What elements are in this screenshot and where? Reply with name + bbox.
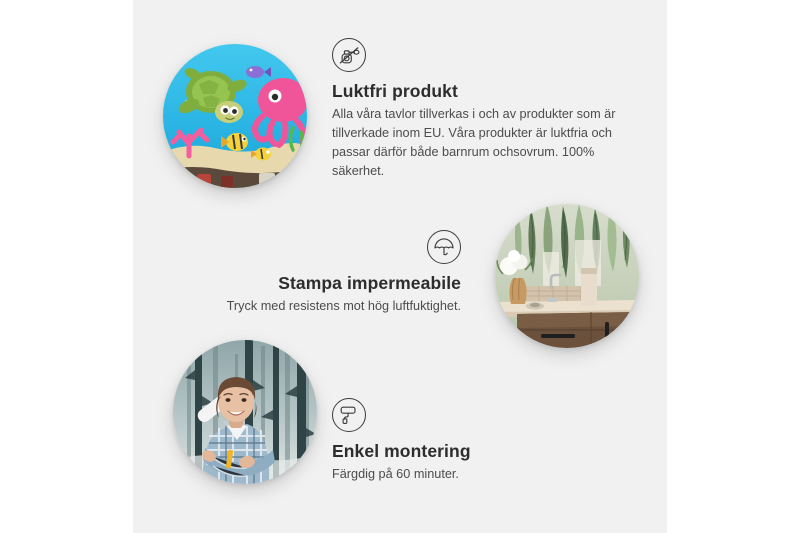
feature-body: Tryck med resistens mot hög luftfuktighe…: [180, 297, 461, 316]
promo-page: Luktfri produkt Alla våra tavlor tillver…: [0, 0, 800, 533]
feature-title: Luktfri produkt: [332, 81, 624, 101]
feature-easy-mounting: Enkel montering Färgdig på 60 minuter.: [332, 398, 612, 484]
bathroom-vanity-tropical-wallpaper-photo: [495, 204, 639, 348]
feature-title: Enkel montering: [332, 441, 612, 461]
paint-roller-icon: [332, 398, 366, 432]
feature-odour-free: Luktfri produkt Alla våra tavlor tillver…: [332, 38, 624, 181]
feature-body: Alla våra tavlor tillverkas i och av pro…: [332, 105, 624, 181]
underwater-cartoon-mural-photo: [163, 44, 307, 188]
feature-body: Färgdig på 60 minuter.: [332, 465, 612, 484]
umbrella-icon: [427, 230, 461, 264]
decorator-forest-mural-photo: [173, 340, 317, 484]
feature-title: Stampa impermeabile: [180, 273, 461, 293]
no-perfume-bottle-icon: [332, 38, 366, 72]
feature-waterproof-print: Stampa impermeabile Tryck med resistens …: [180, 230, 461, 316]
